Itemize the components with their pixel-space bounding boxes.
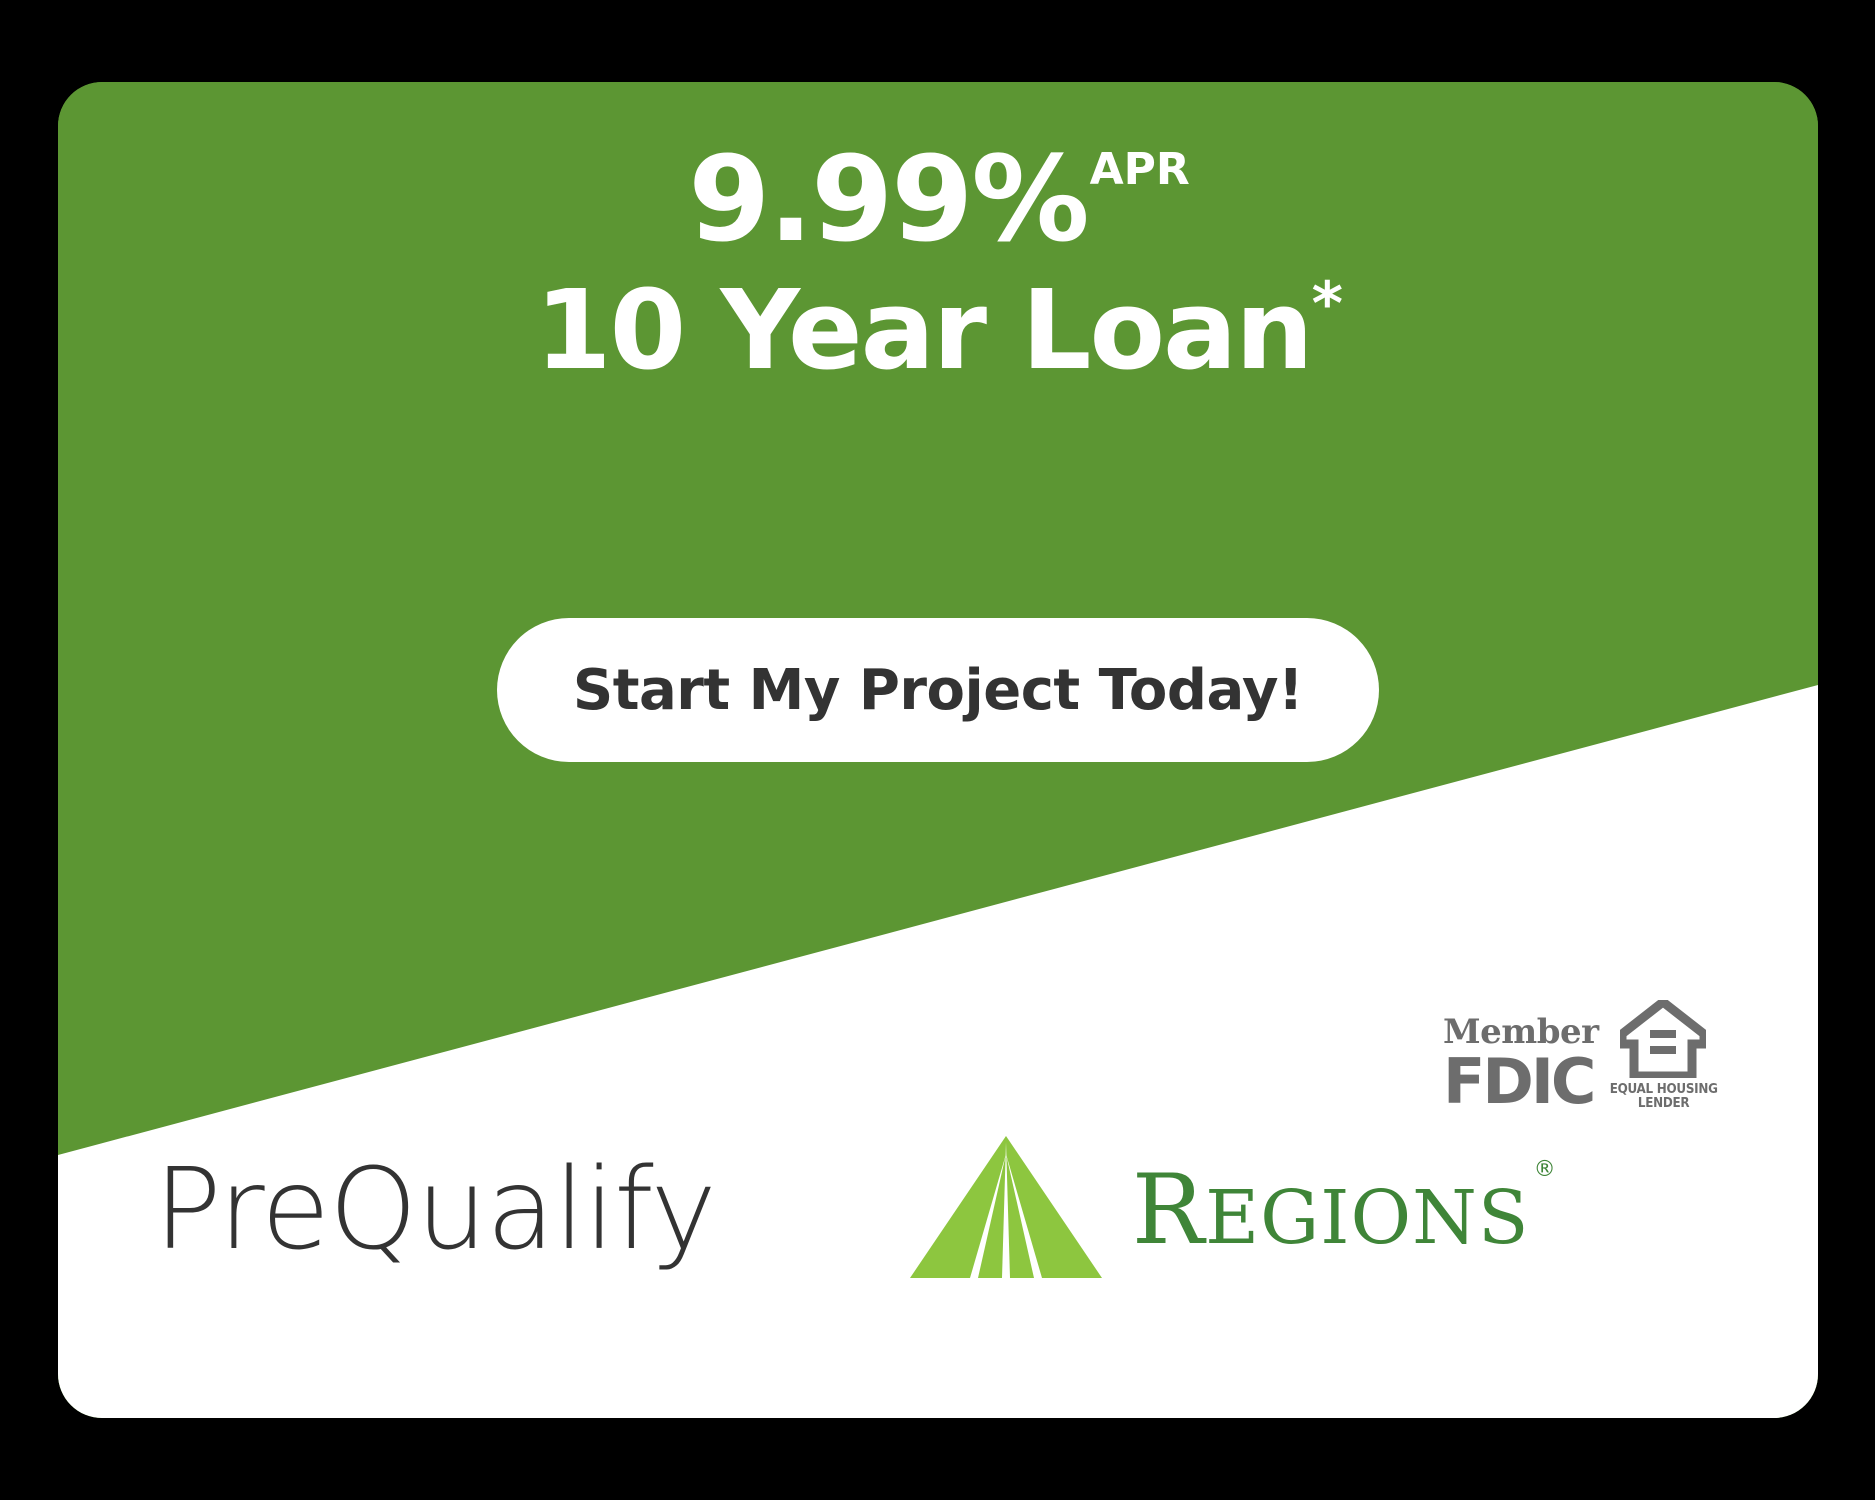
headline-block: 9.99%APR 10 Year Loan* (58, 138, 1818, 391)
footer-row: PreQualify REGIONS® (58, 1132, 1818, 1287)
regions-name-rest: EGIONS (1205, 1175, 1529, 1261)
ad-banner: 9.99%APR 10 Year Loan* Start My Project … (0, 0, 1875, 1500)
equal-housing-lender-mark: EQUAL HOUSING LENDER (1605, 1000, 1722, 1111)
rate-value: 9.99% (688, 130, 1087, 268)
rate-line: 9.99%APR (58, 138, 1818, 262)
term-line: 10 Year Loan* (58, 270, 1818, 391)
promo-card: 9.99%APR 10 Year Loan* Start My Project … (58, 82, 1818, 1418)
disclaimer-asterisk: * (1312, 269, 1341, 339)
registered-trademark-icon: ® (1534, 1157, 1557, 1182)
regions-name-initial: R (1132, 1154, 1205, 1266)
fdic-label: FDIC (1443, 1051, 1593, 1113)
regions-logo[interactable]: REGIONS® (906, 1132, 1553, 1287)
fdic-text-group: Member FDIC (1443, 1015, 1599, 1113)
regions-pyramid-icon (906, 1132, 1106, 1287)
equal-housing-lender-house-icon (1620, 1000, 1706, 1083)
ehl-caption-line2: LENDER (1637, 1096, 1688, 1111)
apr-superscript: APR (1090, 144, 1190, 195)
fdic-lockup: Member FDIC EQUAL HOUSING LENDER (1443, 1000, 1722, 1113)
start-my-project-button[interactable]: Start My Project Today! (497, 618, 1379, 762)
term-value: 10 Year Loan (535, 266, 1312, 394)
equal-housing-lender-caption: EQUAL HOUSING LENDER (1609, 1083, 1717, 1111)
prequalify-wordmark: PreQualify (154, 1154, 716, 1266)
fdic-member-label: Member (1443, 1015, 1599, 1049)
regions-wordmark: REGIONS® (1132, 1162, 1553, 1258)
ehl-caption-line1: EQUAL HOUSING (1609, 1082, 1717, 1097)
cta-container: Start My Project Today! (58, 618, 1818, 762)
